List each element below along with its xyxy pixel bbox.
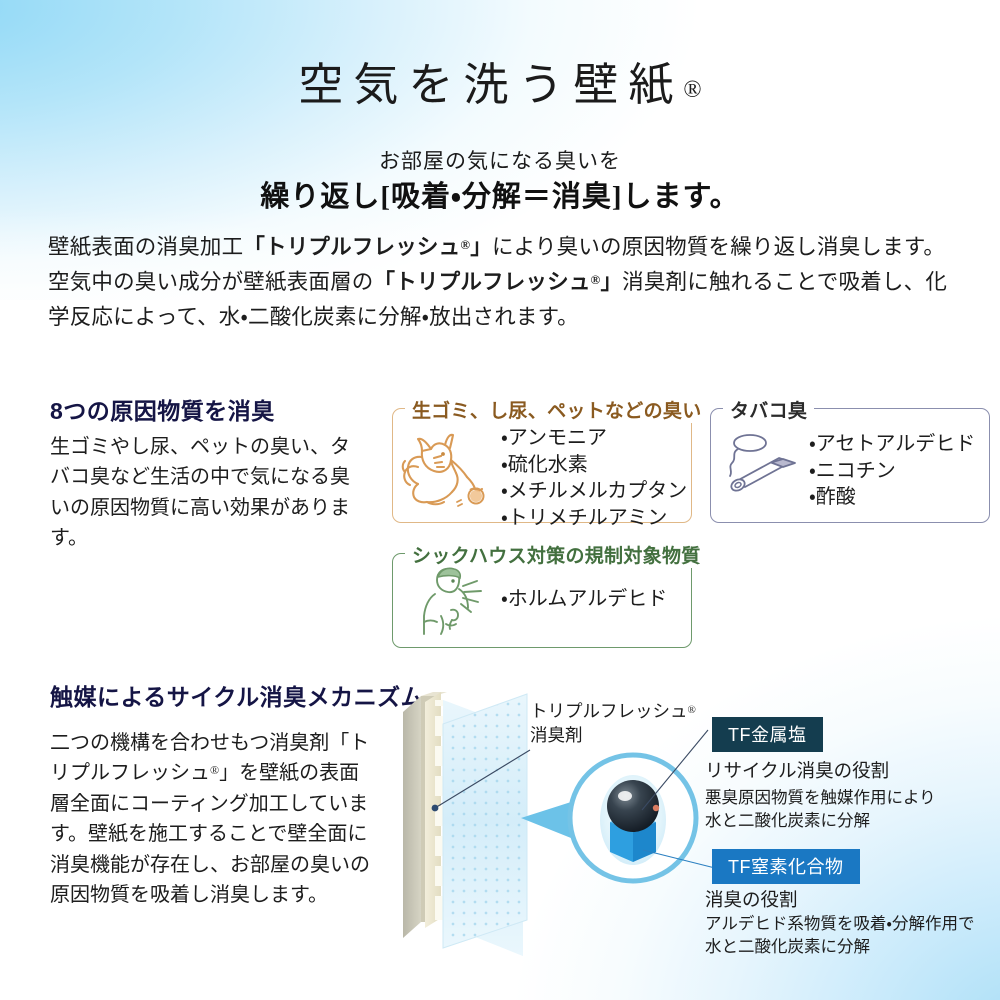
list-item: ・アセトアルデヒド [809,431,975,458]
registered-mark-icon: ® [460,237,470,252]
cat-icon [401,427,497,514]
callout-desc-tf-metal-salt: 悪臭原因物質を触媒作用により水と二酸化炭素に分解 [705,786,936,833]
list-item: ・酢酸 [809,484,975,511]
callout-desc-line-2: 水と二酸化炭素に分解 [705,937,870,956]
section-heading-odors: 8つの原因物質を消臭 [50,392,275,426]
coughing-man-icon [411,564,499,645]
list-item: ・ホルムアルデヒド [501,586,667,613]
odor-box-tobacco-legend: タバコ臭 [723,396,814,423]
intro-brand-1: 「トリプルフレッシュ [243,235,460,259]
page-title-text: 空気を洗う壁紙 [298,60,683,110]
section-body-mechanism: 二つの機構を合わせもつ消臭剤「トリプルフレッシュ®」を壁紙の表面層全面にコーティ… [50,728,370,910]
intro-brand-2-close: 」 [600,270,622,294]
intro-brand-2: 「トリプルフレッシュ [374,270,591,294]
registered-mark-icon: ® [210,763,219,777]
callout-connector-lines [400,690,740,920]
intro-paragraph: 壁紙表面の消臭加工「トリプルフレッシュ®」により臭いの原因物質を繰り返し消臭しま… [48,230,953,334]
callout-desc-tf-nitrogen-compound: アルデヒド系物質を吸着・分解作用で水と二酸化炭素に分解 [705,912,974,959]
list-item: ・硫化水素 [501,452,687,479]
callout-role-tf-metal-salt: リサイクル消臭の役割 [705,757,889,783]
infographic-page: 空気を洗う壁紙® お部屋の気になる臭いを 繰り返し[吸着・分解＝消臭]します。 … [0,0,1000,1000]
list-item: ・アンモニア [501,425,687,452]
page-title: 空気を洗う壁紙® [0,48,1000,113]
odor-box-pet: 生ゴミ、し尿、ペットなどの臭い [392,408,692,523]
badge-tf-nitrogen-compound: TF窒素化合物 [712,849,860,884]
odor-box-sickhouse: シックハウス対策の規制対象物質 [392,553,692,648]
subtitle-line-1: お部屋の気になる臭いを [0,145,1000,175]
cigarette-icon [721,431,807,508]
list-item: ・メチルメルカプタン [501,478,687,505]
callout-role-tf-nitrogen-compound: 消臭の役割 [705,886,798,912]
callout-desc-line-1: アルデヒド系物質を吸着・分解作用で [705,914,974,933]
odor-box-sickhouse-items: ・ホルムアルデヒド [501,586,667,613]
intro-part-1: 壁紙表面の消臭加工 [48,235,243,259]
odor-box-tobacco: タバコ臭 ・アセトアルデヒド ・ニコチン ・酢酸 [710,408,990,523]
subtitle-line-2: 繰り返し[吸着・分解＝消臭]します。 [0,173,1000,215]
section-heading-mechanism: 触媒によるサイクル消臭メカニズム [50,678,424,712]
odor-box-pet-legend: 生ゴミ、し尿、ペットなどの臭い [405,396,709,423]
list-item: ・ニコチン [809,458,975,485]
section-body-odors: 生ゴミやし尿、ペットの臭い、タバコ臭など生活の中で気になる臭いの原因物質に高い効… [50,432,350,554]
odor-box-pet-items: ・アンモニア ・硫化水素 ・メチルメルカプタン ・トリメチルアミン [501,425,687,531]
registered-mark-icon: ® [591,272,601,287]
odor-box-tobacco-items: ・アセトアルデヒド ・ニコチン ・酢酸 [809,431,975,511]
callout-desc-line-1: 悪臭原因物質を触媒作用により [705,788,936,807]
list-item: ・トリメチルアミン [501,505,687,532]
callout-desc-line-2: 水と二酸化炭素に分解 [705,811,870,830]
badge-tf-metal-salt: TF金属塩 [712,717,823,752]
registered-mark-icon: ® [683,77,701,103]
intro-brand-1-close: 」 [470,235,492,259]
